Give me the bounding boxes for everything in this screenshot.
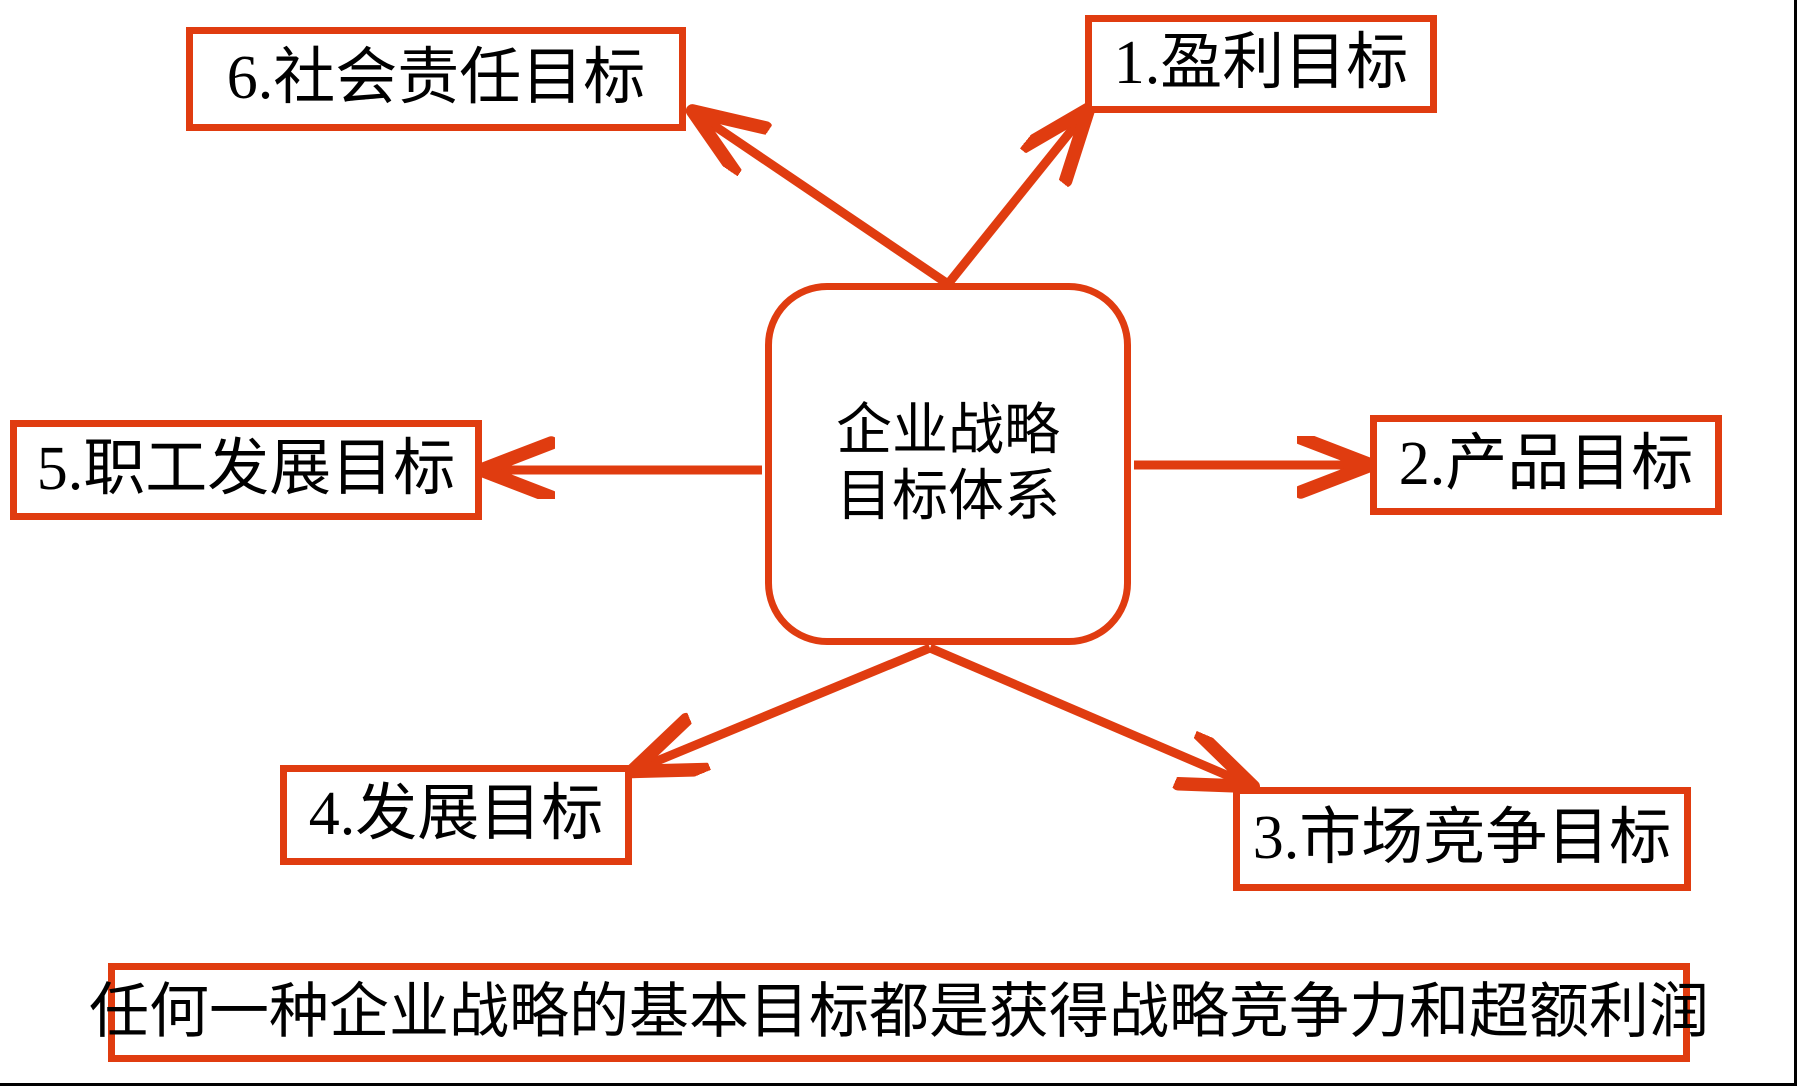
node-social-responsibility-goal[interactable]: 6.社会责任目标 (186, 27, 686, 131)
central-node-enterprise-strategy-goal-system[interactable]: 企业战略 目标体系 (765, 283, 1131, 645)
central-node-text: 企业战略 目标体系 (836, 398, 1060, 530)
central-node-line-1: 企业战略 (836, 398, 1060, 464)
arrow-center-to-node-3 (930, 648, 1245, 783)
node-employee-development-goal[interactable]: 5.职工发展目标 (10, 420, 482, 520)
slide-canvas: 企业战略 目标体系 6.社会责任目标 1.盈利目标 5.职工发展目标 2.产品目… (0, 0, 1797, 1086)
arrow-center-to-node-6 (700, 116, 948, 284)
arrow-center-to-node-4 (640, 648, 930, 768)
node-product-goal[interactable]: 2.产品目标 (1370, 415, 1722, 515)
node-profit-goal[interactable]: 1.盈利目标 (1085, 15, 1437, 113)
central-node-line-2: 目标体系 (836, 464, 1060, 530)
node-market-competition-goal[interactable]: 3.市场竞争目标 (1233, 787, 1691, 891)
caption-box[interactable]: 任何一种企业战略的基本目标都是获得战略竞争力和超额利润 (108, 963, 1690, 1062)
arrow-center-to-node-1 (948, 116, 1083, 284)
node-development-goal[interactable]: 4.发展目标 (280, 765, 632, 865)
